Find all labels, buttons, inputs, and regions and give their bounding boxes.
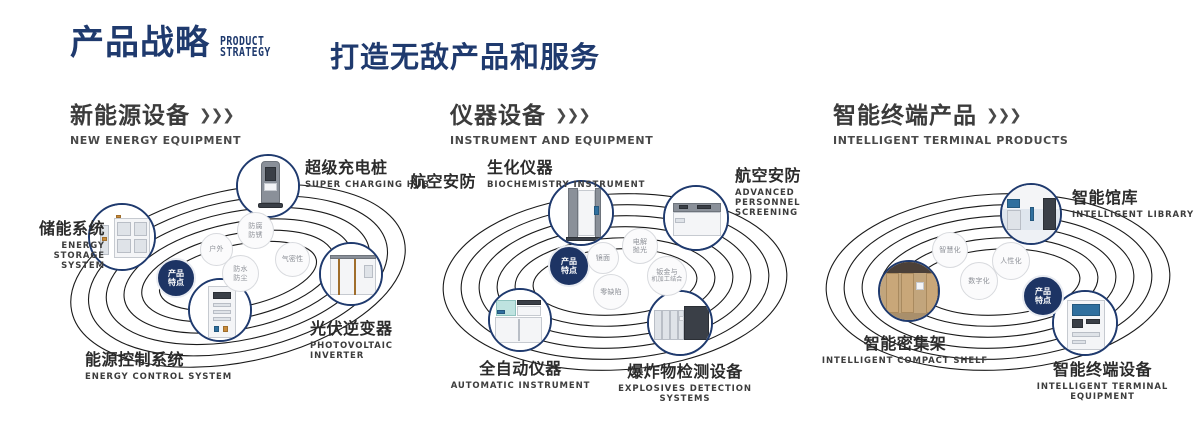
brand-title-en: PRODUCT STRATEGY	[220, 36, 271, 58]
feature-line1: 防水	[233, 265, 247, 274]
feature-line1: 零缺陷	[600, 288, 622, 297]
label-explosives-detection: 爆炸物检测设备 EXPLOSIVES DETECTION SYSTEMS	[595, 358, 775, 404]
label-terminal-equipment: 智能终端设备 INTELLIGENT TERMINAL EQUIPMENT	[1005, 356, 1200, 402]
label-en: AUTOMATIC INSTRUMENT	[443, 381, 598, 391]
cluster-instrument: 航空安防 生化仪器 BIOCHEMISTRY INSTRUMENT	[415, 150, 815, 400]
label-cn: 智能馆库	[1072, 184, 1194, 208]
section-title-en: INTELLIGENT TERMINAL PRODUCTS	[833, 134, 1068, 147]
label-en: INTELLIGENT COMPACT SHELF	[810, 356, 1000, 366]
label-en: ENERGY CONTROL SYSTEM	[85, 372, 232, 382]
node-photo-explosives-detection[interactable]	[647, 290, 713, 356]
node-photo-automatic-instrument[interactable]	[488, 288, 552, 352]
feature-bubble-waterproof: 防水防尘	[222, 255, 259, 292]
label-energy-control: 能源控制系统 ENERGY CONTROL SYSTEM	[85, 346, 232, 382]
feature-bubble-intelligent: 智慧化	[932, 232, 968, 268]
feature-bubble-airtightness: 气密性	[275, 242, 310, 277]
label-cn: 爆炸物检测设备	[595, 358, 775, 382]
brand-title-cn: 产品战略	[70, 26, 210, 60]
node-photo-personnel-screening[interactable]	[663, 185, 729, 251]
brand-title-en-line2: STRATEGY	[220, 47, 271, 58]
label-en: INTELLIGENT LIBRARY	[1072, 210, 1194, 220]
label-intelligent-library: 智能馆库 INTELLIGENT LIBRARY	[1072, 184, 1194, 220]
feature-bubble-mirror-finish: 镜面	[587, 242, 619, 274]
feature-line2: 机加工结合	[651, 276, 682, 285]
label-cn: 生化仪器	[487, 154, 645, 178]
core-line1: 产品	[561, 257, 577, 267]
label-cn: 能源控制系统	[85, 346, 232, 370]
label-en: EXPLOSIVES DETECTION SYSTEMS	[595, 384, 775, 404]
label-cn: 智能密集架	[810, 330, 1000, 354]
label-cn: 航空安防	[410, 168, 476, 192]
label-cn: 储能系统	[20, 215, 105, 239]
product-strategy-infographic: 产品战略 PRODUCT STRATEGY 打造无敌产品和服务 新能源设备❯❯❯…	[0, 0, 1200, 422]
section-title-new-energy: 新能源设备❯❯❯ NEW ENERGY EQUIPMENT	[70, 96, 241, 147]
label-aviation-security-left: 航空安防	[410, 168, 476, 192]
section-title-cn: 仪器设备	[450, 96, 546, 130]
cluster-intelligent-terminal: 智能馆库 INTELLIGENT LIBRARY 智能密集架 INTELLIGE…	[800, 150, 1200, 400]
feature-line1: 户外	[209, 245, 223, 254]
feature-line1: 钣金与	[651, 268, 682, 277]
feature-line1: 电解	[633, 238, 647, 247]
node-photo-pv-inverter[interactable]	[319, 242, 383, 306]
feature-line2: 抛光	[633, 246, 647, 255]
core-line1: 产品	[168, 269, 184, 279]
label-energy-storage: 储能系统 ENERGY STORAGE SYSTEM	[20, 215, 105, 271]
section-title-en: NEW ENERGY EQUIPMENT	[70, 134, 241, 147]
feature-bubble-electropolishing: 电解抛光	[622, 228, 658, 264]
chevron-right-icon: ❯❯❯	[199, 106, 234, 124]
section-title-cn: 智能终端产品	[833, 96, 977, 130]
feature-line1: 人性化	[1000, 257, 1022, 266]
core-line2: 特点	[561, 266, 577, 276]
feature-bubble-zero-defect: 零缺陷	[593, 274, 629, 310]
label-cn: 智能终端设备	[1005, 356, 1200, 380]
feature-line1: 镜面	[596, 254, 610, 263]
feature-bubble-anticorrosion: 防腐防锈	[237, 212, 274, 249]
feature-bubble-sheetmetal-machining: 钣金与机加工结合	[647, 256, 687, 296]
feature-line1: 防腐	[248, 222, 262, 231]
feature-line1: 数字化	[968, 277, 990, 286]
core-line2: 特点	[168, 278, 184, 288]
section-title-en: INSTRUMENT AND EQUIPMENT	[450, 134, 653, 147]
label-en: INTELLIGENT TERMINAL EQUIPMENT	[1005, 382, 1200, 402]
node-photo-charging-hub[interactable]	[236, 154, 300, 218]
label-en: ENERGY STORAGE SYSTEM	[20, 241, 105, 271]
label-compact-shelf: 智能密集架 INTELLIGENT COMPACT SHELF	[810, 330, 1000, 366]
feature-line2: 防锈	[248, 231, 262, 240]
feature-line2: 防尘	[233, 274, 247, 283]
label-en: BIOCHEMISTRY INSTRUMENT	[487, 180, 645, 190]
node-photo-intelligent-library[interactable]	[1000, 183, 1062, 245]
brand-title: 产品战略 PRODUCT STRATEGY	[70, 26, 282, 60]
label-biochemistry-instrument: 生化仪器 BIOCHEMISTRY INSTRUMENT	[487, 154, 645, 190]
node-photo-compact-shelf[interactable]	[878, 260, 940, 322]
headline: 打造无敌产品和服务	[330, 34, 600, 76]
chevron-right-icon: ❯❯❯	[986, 106, 1021, 124]
label-cn: 全自动仪器	[443, 355, 598, 379]
chevron-right-icon: ❯❯❯	[555, 106, 590, 124]
core-line2: 特点	[1035, 296, 1051, 306]
section-title-instrument: 仪器设备❯❯❯ INSTRUMENT AND EQUIPMENT	[450, 96, 653, 147]
core-bubble-product-features[interactable]: 产品 特点	[1022, 275, 1064, 317]
section-title-intelligent-terminal: 智能终端产品❯❯❯ INTELLIGENT TERMINAL PRODUCTS	[833, 96, 1068, 147]
section-title-cn: 新能源设备	[70, 96, 190, 130]
core-line1: 产品	[1035, 287, 1051, 297]
cluster-new-energy: 储能系统 ENERGY STORAGE SYSTEM 超级充电桩 SUPER C…	[40, 150, 440, 400]
core-bubble-product-features[interactable]: 产品 特点	[548, 245, 590, 287]
core-bubble-product-features[interactable]: 产品 特点	[156, 258, 196, 298]
feature-line1: 气密性	[282, 255, 304, 264]
feature-bubble-humanized: 人性化	[992, 242, 1030, 280]
label-automatic-instrument: 全自动仪器 AUTOMATIC INSTRUMENT	[443, 355, 598, 391]
feature-line1: 智慧化	[939, 246, 961, 255]
